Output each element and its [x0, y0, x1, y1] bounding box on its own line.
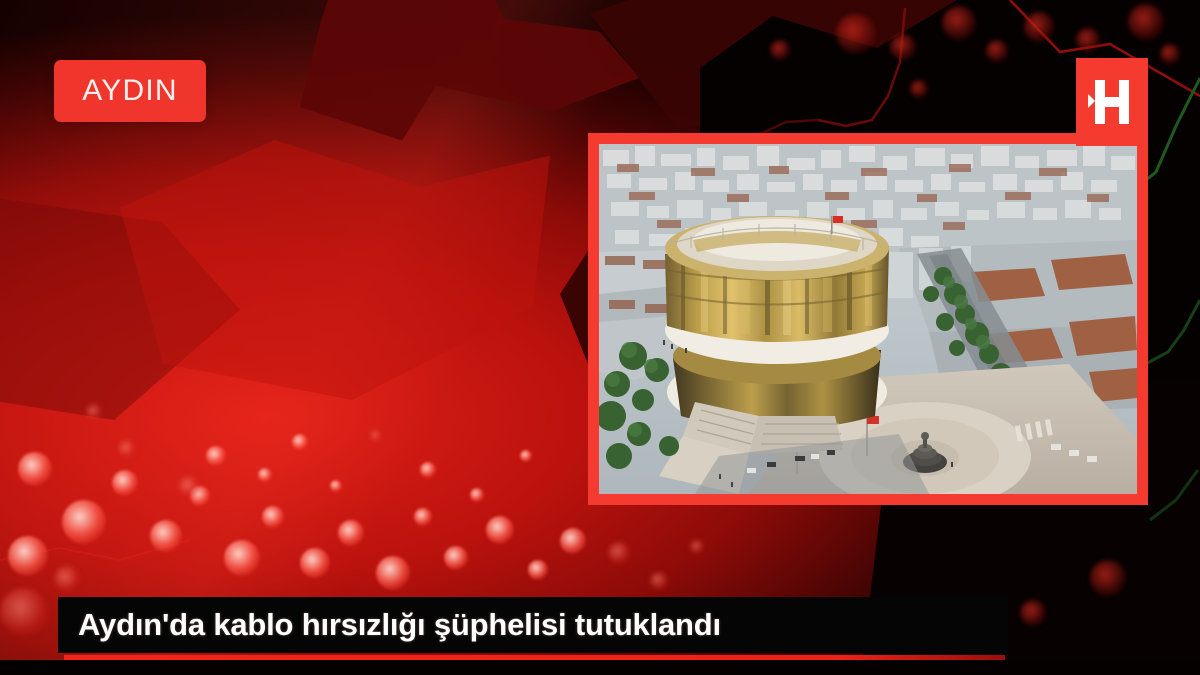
- bottom-black-strip: [0, 660, 1200, 675]
- news-photo-illustration: [599, 144, 1137, 494]
- thumbnail-card: AYDIN: [0, 0, 1200, 675]
- news-photo[interactable]: [599, 144, 1137, 494]
- logo-h-right-stem: [1119, 80, 1129, 124]
- photo-frame: [588, 133, 1148, 505]
- logo-h-icon: [1095, 80, 1129, 124]
- logo-notch-icon: [1088, 94, 1095, 108]
- region-badge-aydin[interactable]: AYDIN: [54, 60, 206, 122]
- headline-bar: Aydın'da kablo hırsızlığı şüphelisi tutu…: [58, 597, 1008, 653]
- headline-text: Aydın'da kablo hırsızlığı şüphelisi tutu…: [58, 607, 721, 643]
- region-badge-label: AYDIN: [82, 74, 177, 108]
- site-logo[interactable]: [1076, 58, 1148, 146]
